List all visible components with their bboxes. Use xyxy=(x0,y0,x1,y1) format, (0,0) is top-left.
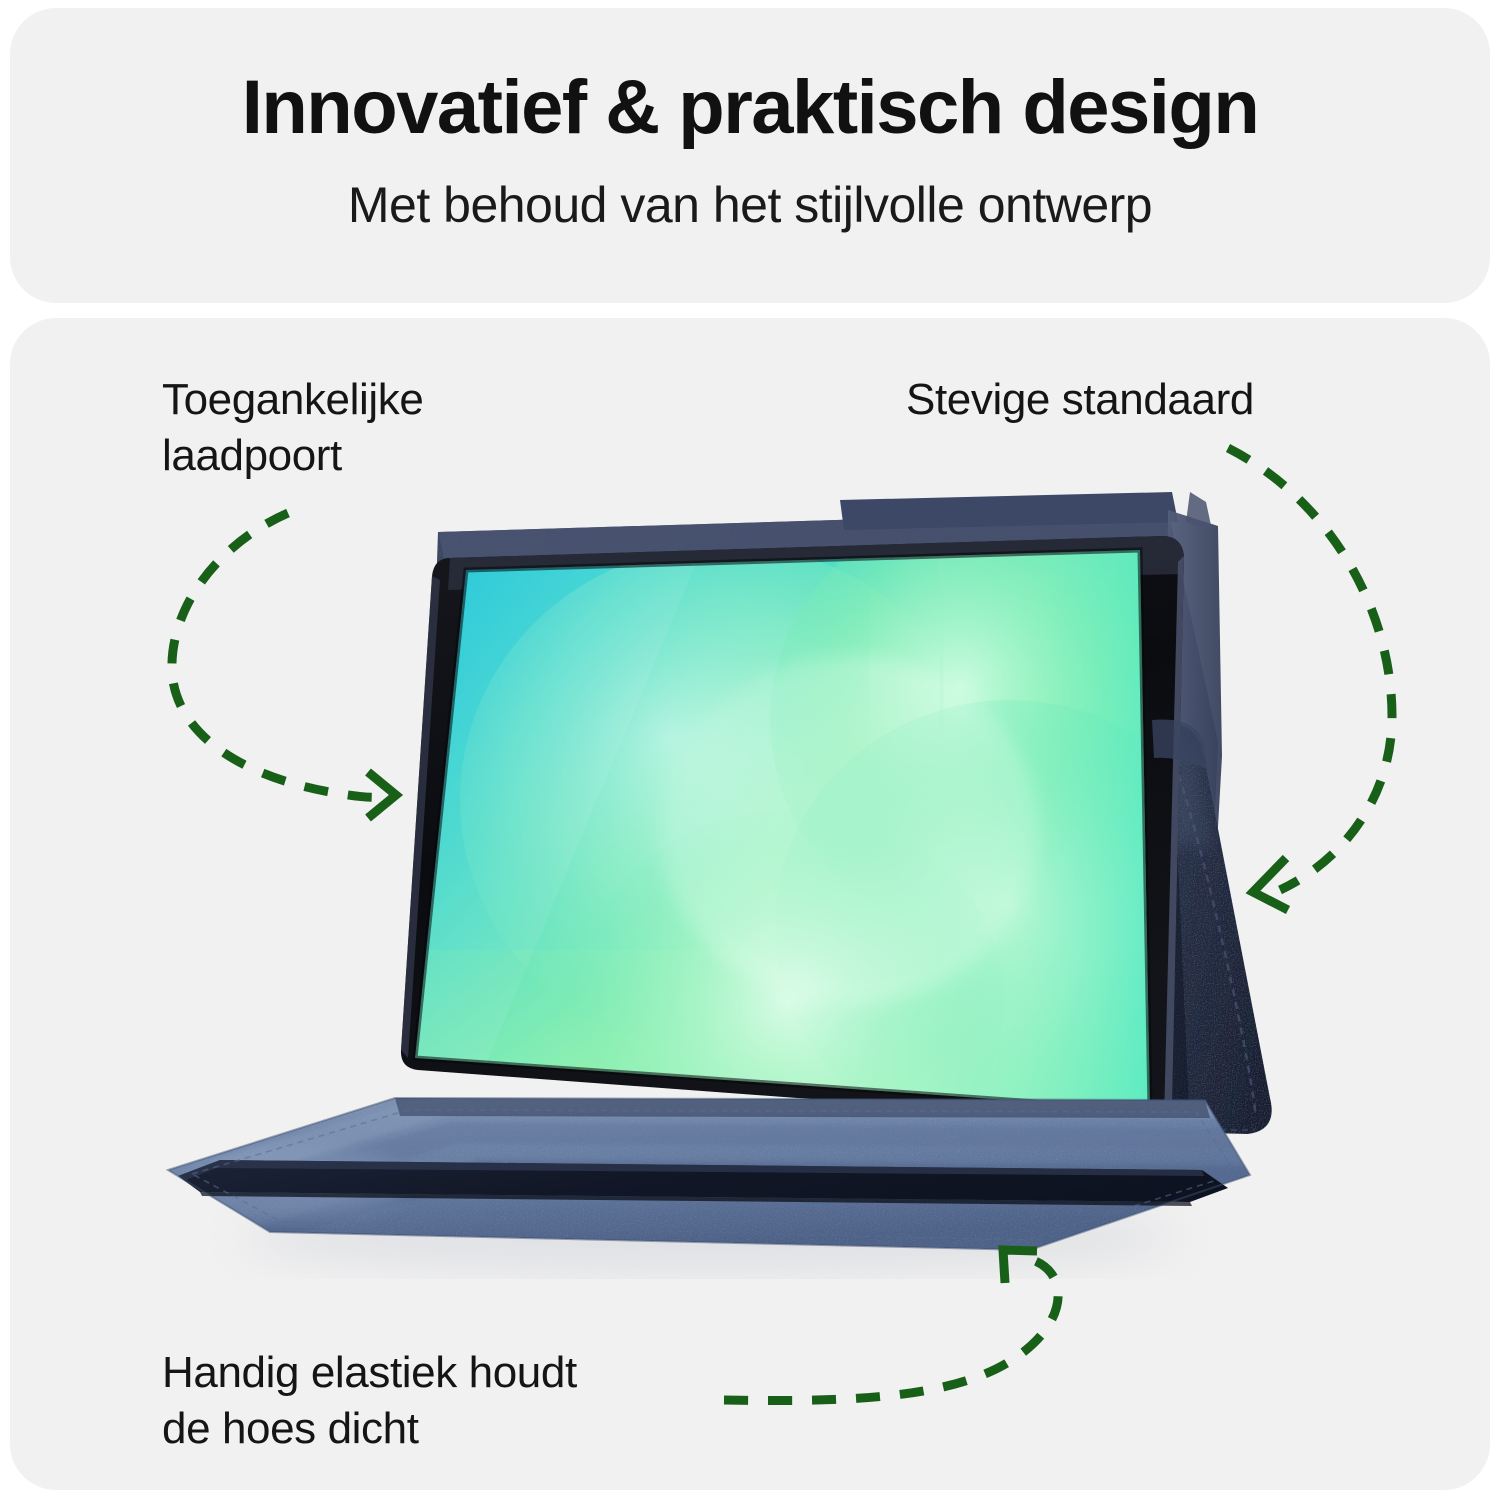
page-subtitle: Met behoud van het stijlvolle ontwerp xyxy=(10,178,1490,233)
callout-label-charging-port: Toegankelijke laadpoort xyxy=(162,372,423,485)
case-base xyxy=(168,1090,1250,1250)
callout-label-elastic-strap: Handig elastiek houdt de hoes dicht xyxy=(162,1345,577,1458)
callout-label-sturdy-stand: Stevige standaard xyxy=(906,372,1254,428)
page-title: Innovatief & praktisch design xyxy=(10,68,1490,148)
tablet xyxy=(400,505,1245,1190)
product-photo xyxy=(150,470,1350,1290)
header-card: Innovatief & praktisch design Met behoud… xyxy=(10,8,1490,303)
